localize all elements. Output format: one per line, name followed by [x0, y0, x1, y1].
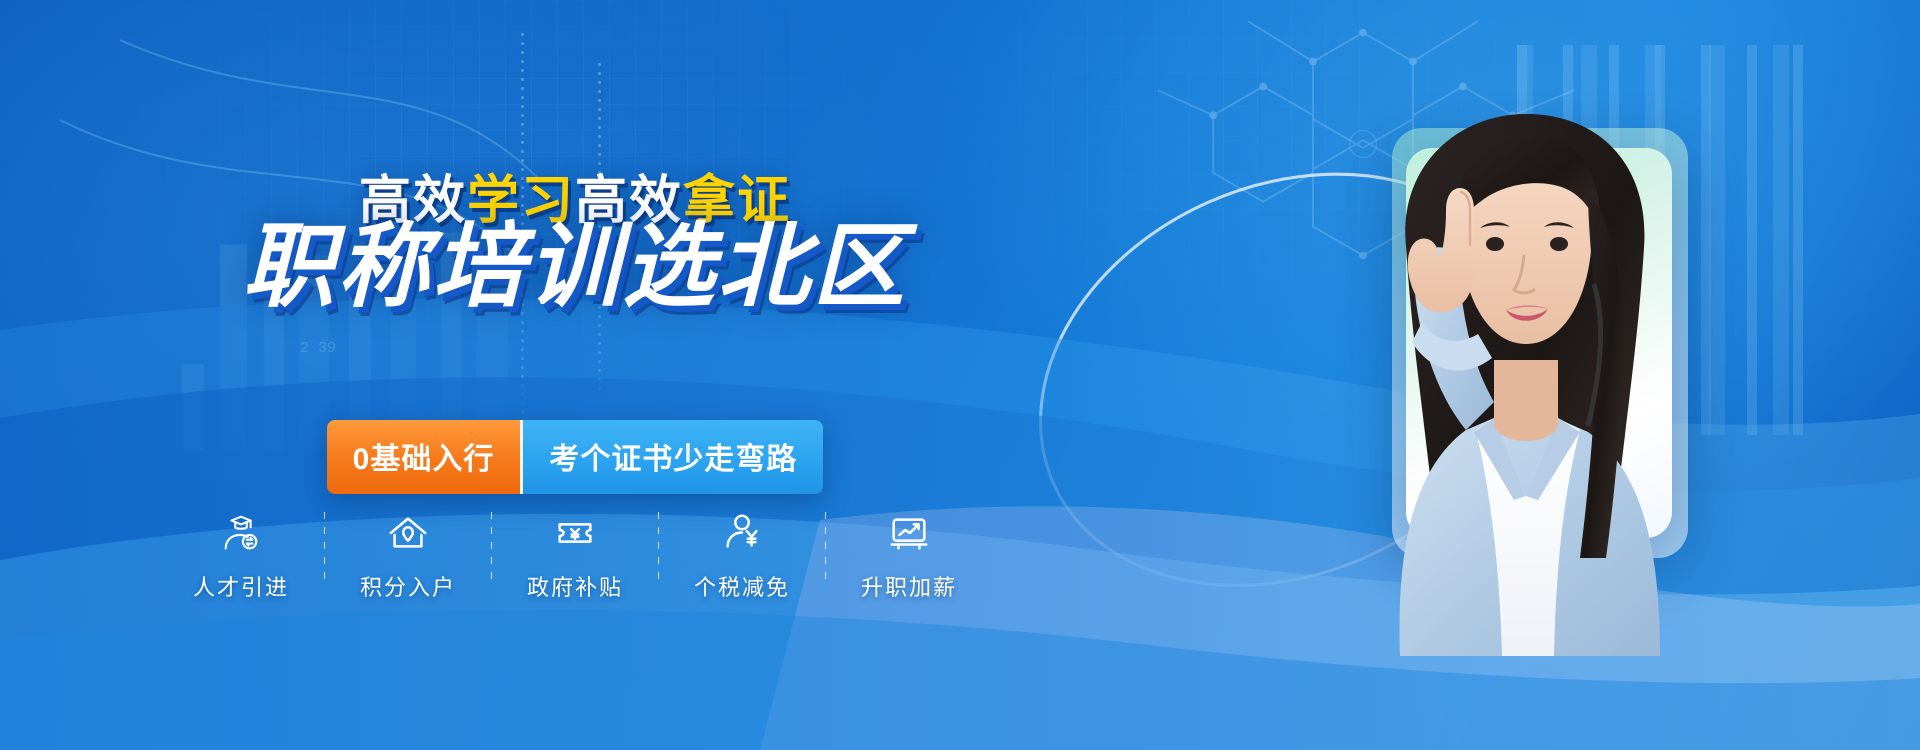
headline-accent: 选北区 [623, 218, 908, 317]
badge-primary[interactable]: 0基础入行 [327, 420, 521, 494]
copy-block: 高效学习高效拿证 职称培训选北区 0基础入行 考个证书少走弯路 [0, 0, 1150, 750]
headline-lead: 职称培训 [242, 216, 622, 318]
person-yuan-icon [719, 508, 765, 558]
feature-item-talent[interactable]: 人才引进 [174, 508, 308, 602]
growth-chart-icon [886, 508, 932, 558]
feature-item-tax[interactable]: 个税减免 [675, 508, 809, 602]
feature-item-subsidy[interactable]: 政府补贴 [508, 508, 642, 602]
feature-label: 升职加薪 [861, 570, 957, 602]
feature-divider [491, 512, 492, 586]
woman-pointing-photo [1288, 96, 1758, 656]
feature-divider [324, 512, 325, 586]
feature-divider [658, 512, 659, 586]
feature-label: 个税减免 [694, 570, 790, 602]
feature-item-residence[interactable]: 积分入户 [341, 508, 475, 602]
promo-banner: 2 39 [0, 0, 1920, 750]
house-pin-icon [385, 508, 431, 558]
feature-divider [825, 512, 826, 586]
feature-label: 积分入户 [360, 570, 456, 602]
graduate-person-icon [218, 508, 264, 558]
headline: 职称培训选北区 [0, 218, 1150, 317]
feature-row: 人才引进 积分入户 [0, 508, 1150, 602]
feature-label: 政府补贴 [527, 570, 623, 602]
hero-photo [1160, 0, 1920, 750]
feature-label: 人才引进 [193, 570, 289, 602]
badge-secondary[interactable]: 考个证书少走弯路 [520, 420, 823, 494]
feature-item-promotion[interactable]: 升职加薪 [842, 508, 976, 602]
ticket-yuan-icon [552, 508, 598, 558]
badge-row: 0基础入行 考个证书少走弯路 [0, 420, 1150, 494]
